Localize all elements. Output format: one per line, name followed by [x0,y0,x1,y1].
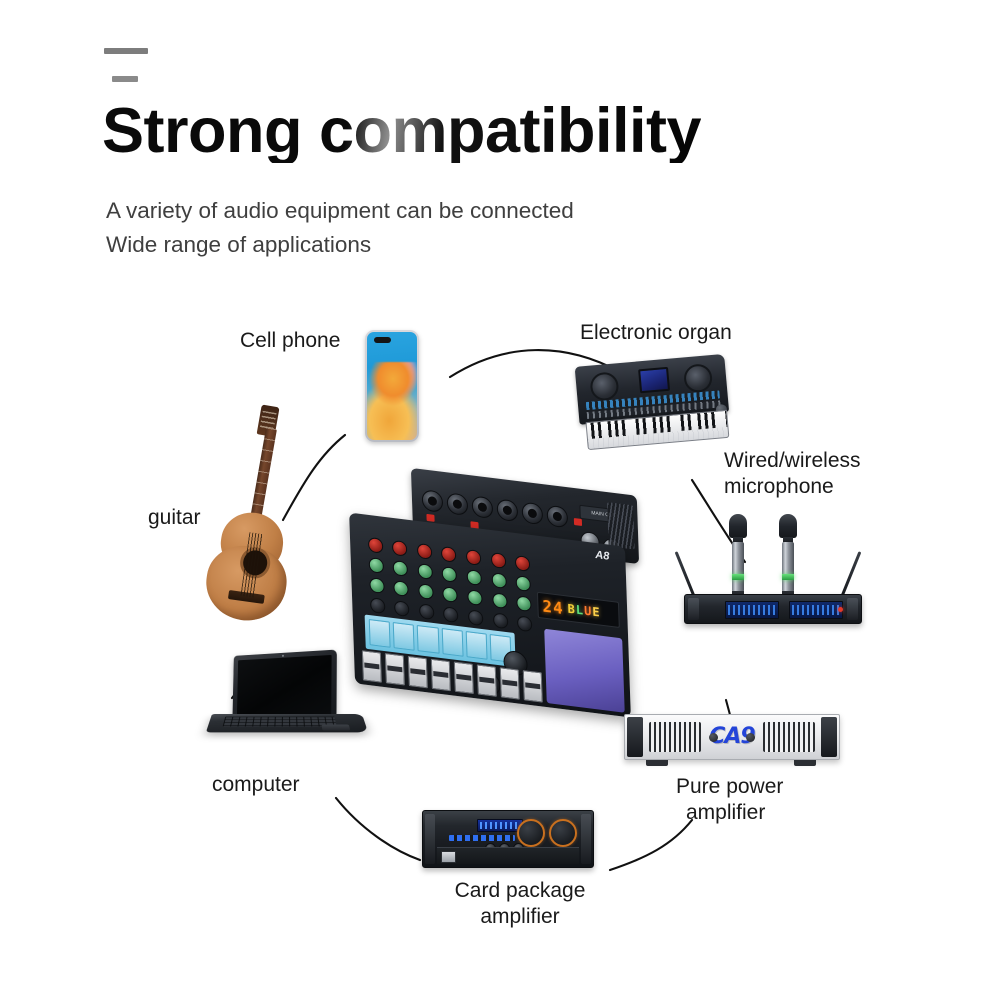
microphone-handle [732,542,744,592]
mixer-phantom-button [426,514,434,522]
mixer-channel-cell [441,628,463,657]
card-package-amplifier-label-line-1: Card package [455,879,586,902]
microphone-label-line-2: microphone [724,475,834,498]
microphone-rack-receiver [684,594,862,624]
mixer-xlr-jack [422,489,444,513]
device-computer-laptop [212,652,362,756]
mixer-knob [490,552,506,569]
device-wireless-microphone-system [672,502,872,630]
mixer-knob [492,592,508,609]
guitar-body [200,507,298,626]
device-audio-mixer: MAIN OUT A8 [352,482,642,707]
pure-power-amplifier-label-line-2: amplifier [686,801,765,824]
header-decoration-bar-bottom [112,76,138,82]
microphone-grille [729,514,747,538]
subtitle-line-2: Wide range of applications [106,228,574,262]
mixer-fader [408,656,428,688]
mixer-channel-cell [465,631,487,660]
organ-speaker-right [683,363,713,393]
mixer-fader [454,662,474,694]
mixer-knob [417,542,433,559]
mixer-knob [468,609,484,626]
mixer-knob [515,555,531,572]
laptop-screen [237,655,332,715]
receiver-power-led [838,607,843,612]
card-amplifier-display [477,819,523,832]
laptop-keyboard [223,717,337,727]
mixer-knob [443,606,459,623]
mixer-fader [385,653,405,685]
handheld-microphone-1 [728,514,748,602]
rack-mount-ear-left [627,717,643,757]
node-label-computer: computer [212,772,300,798]
mixer-vent-grille [607,502,635,549]
mixer-knob [417,563,433,580]
node-label-guitar: guitar [148,505,201,531]
mixer-fader [523,670,543,702]
mixer-knob [394,580,410,597]
mixer-model-label: A8 [595,549,609,563]
mixer-knob [491,572,507,589]
microphone-status-led [782,574,794,580]
mixer-channel-cell [369,619,391,648]
power-amplifier-foot-right [794,760,816,766]
mixer-knob [443,586,459,603]
node-label-cell-phone: Cell phone [240,328,340,354]
rack-mount-ear-right [847,598,858,620]
node-label-pure-power-amplifier: Pure power amplifier [676,774,866,826]
organ-display [638,367,670,394]
card-amplifier-led-bar [449,835,515,841]
mixer-knob [493,612,509,629]
mixer-knob [467,569,483,586]
mixer-xlr-jack [472,495,494,519]
power-amplifier-front-panel: CA9 [624,714,840,760]
card-amplifier-usb-port [441,851,456,863]
mixer-knob [517,615,533,632]
microphone-handle [782,542,794,592]
mixer-knob [419,603,435,620]
node-label-electronic-organ: Electronic organ [580,320,732,346]
mixer-fader [477,664,497,696]
mixer-knob [368,536,384,553]
handheld-microphone-2 [778,514,798,602]
mixer-knob [393,559,409,576]
mixer-knob [369,577,385,594]
device-card-package-amplifier [422,810,592,872]
organ-speaker-left [589,371,619,401]
mixer-knob [467,589,483,606]
mixer-display-word: BLUE [567,602,600,620]
mixer-knob [368,556,384,573]
mixer-knob [394,600,410,617]
power-amplifier-knob-right [746,733,755,742]
mixer-knob [466,548,482,565]
mixer-knob [516,575,532,592]
mixer-xlr-jack [447,492,469,516]
mixer-fader [500,667,520,699]
card-package-amplifier-label-line-2: amplifier [480,905,559,928]
card-amplifier-lower-panel [437,847,579,864]
mixer-fader [431,659,451,691]
mixer-knob [442,566,458,583]
mixer-front-panel: A8 [349,513,631,718]
mixer-channel-cell [417,625,439,654]
rack-mount-ear-right [581,814,591,864]
header-decoration-bar-top [104,48,148,54]
mixer-phantom-button [574,518,582,526]
page-root: Strong compatibility A variety of audio … [0,0,1000,1000]
rack-mount-ear-left [688,598,699,620]
card-amplifier-chassis [422,810,594,868]
device-pure-power-amplifier: CA9 [624,714,838,766]
mixer-effects-panel [544,629,625,713]
mixer-knob [392,539,408,556]
mixer-led-display: 24 BLUE [537,592,620,628]
microphone-status-led [732,574,744,580]
power-amplifier-vent-right [763,722,815,752]
power-amplifier-foot-left [646,760,668,766]
mixer-knob [418,583,434,600]
mixer-channel-cell [393,622,415,651]
compatibility-diagram: Cell phone Electronic organ guitar [0,280,1000,1000]
device-cell-phone [365,330,419,442]
page-title: Strong compatibility [102,100,701,163]
node-label-microphone: Wired/wireless microphone [724,448,904,500]
mixer-xlr-jack [522,502,544,526]
power-amplifier-knob-left [709,733,718,742]
mixer-fader [362,650,382,682]
cell-phone-camera-cutout [374,337,391,343]
microphone-label-line-1: Wired/wireless [724,449,861,472]
rack-mount-ear-left [425,814,435,864]
microphone-grille [779,514,797,538]
pure-power-amplifier-label-line-1: Pure power [676,775,783,798]
page-subtitle: A variety of audio equipment can be conn… [106,194,574,262]
receiver-display-channel-a [725,601,779,619]
device-electronic-organ [574,347,738,456]
mixer-xlr-jack [546,505,568,529]
laptop-base [206,714,368,732]
connector-card-to-computer [336,798,420,860]
card-amplifier-tone-knob [549,819,577,847]
laptop-trackpad [322,725,351,731]
mixer-display-number: 24 [542,596,564,618]
node-label-card-package-amplifier: Card package amplifier [420,878,620,930]
mixer-knob [441,545,457,562]
mixer-knob [516,595,532,612]
mixer-xlr-jack [497,498,519,522]
subtitle-line-1: A variety of audio equipment can be conn… [106,194,574,228]
cell-phone-wallpaper [367,362,417,440]
receiver-display-channel-b [789,601,843,619]
mixer-knob [370,597,386,614]
laptop-webcam [282,655,284,657]
cell-phone-screen [367,332,417,440]
connector-amplifier-to-card [610,820,692,870]
laptop-lid [232,650,336,722]
rack-mount-ear-right [821,717,837,757]
power-amplifier-vent-left [649,722,701,752]
